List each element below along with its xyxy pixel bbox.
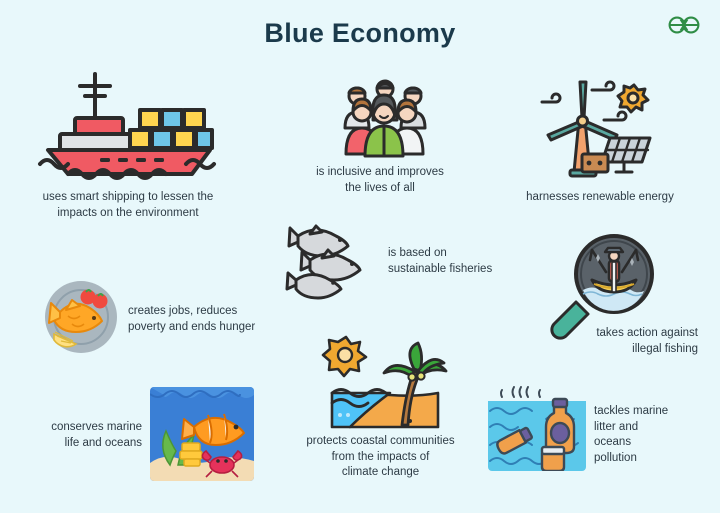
- polluted-water-bottles-icon: [488, 383, 586, 471]
- caption-sustainable-fisheries: is based on sustainable fisheries: [388, 246, 538, 277]
- caption-illegal-fishing: takes action against illegal fishing: [548, 326, 698, 357]
- group-of-people-icon: [332, 72, 438, 158]
- caption-marine-pollution: tackles marine litter and oceans polluti…: [594, 404, 704, 466]
- underwater-reef-clownfish-icon: [150, 387, 254, 481]
- caption-inclusive-people: is inclusive and improves the lives of a…: [295, 165, 465, 196]
- caption-jobs-and-hunger: creates jobs, reduces poverty and ends h…: [128, 304, 293, 335]
- geeksforgeeks-logo[interactable]: [666, 14, 702, 36]
- three-fish-icon: [286, 222, 382, 298]
- caption-coastal-communities: protects coastal communities from the im…: [288, 434, 473, 481]
- magnifying-glass-fishing-boat-icon: [548, 232, 658, 332]
- caption-renewable-energy: harnesses renewable energy: [505, 190, 695, 206]
- page-title: Blue Economy: [0, 18, 720, 49]
- infographic-canvas: Blue Economy: [0, 0, 720, 513]
- cooked-fish-plate-icon: [42, 280, 120, 354]
- wind-turbine-solar-panel-icon: [534, 76, 658, 176]
- caption-marine-life: conserves marine life and oceans: [10, 420, 142, 451]
- cargo-ship-icon: [38, 66, 218, 176]
- beach-palm-sun-icon: [322, 333, 440, 433]
- caption-smart-shipping: uses smart shipping to lessen the impact…: [8, 190, 248, 221]
